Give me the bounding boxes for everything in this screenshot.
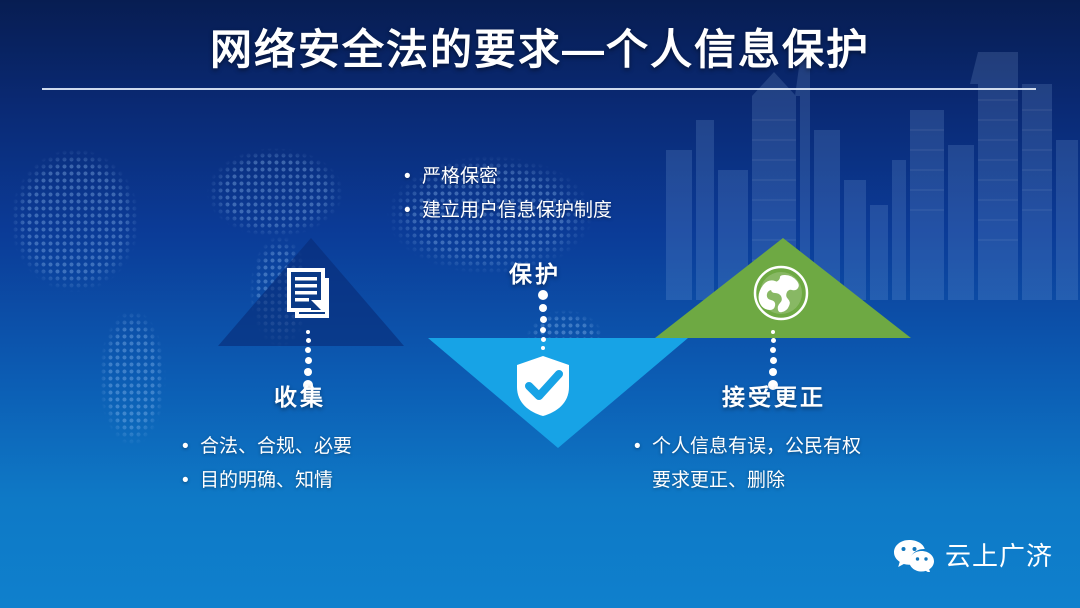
protect-connector-dots	[538, 290, 548, 354]
wechat-icon	[893, 538, 935, 572]
list-item: • 个人信息有误，公民有权	[634, 430, 861, 464]
protect-bullet-list: • 严格保密 • 建立用户信息保护制度	[404, 160, 612, 228]
bullet-marker: •	[404, 194, 422, 228]
correct-label: 接受更正	[722, 378, 826, 412]
bullet-text: 建立用户信息保护制度	[422, 194, 612, 228]
slide-canvas: 网络安全法的要求—个人信息保护	[0, 0, 1080, 608]
list-item: • 严格保密	[404, 160, 612, 194]
bullet-marker: •	[634, 430, 652, 464]
shield-check-icon	[515, 355, 571, 417]
list-item: • 合法、合规、必要	[182, 430, 352, 464]
collect-bullet-list: • 合法、合规、必要 • 目的明确、知情	[182, 430, 352, 498]
bullet-text: 目的明确、知情	[200, 464, 333, 498]
bullet-text-continuation: 要求更正、删除	[652, 464, 861, 498]
page-title: 网络安全法的要求—个人信息保护	[0, 16, 1080, 77]
list-item: • 建立用户信息保护制度	[404, 194, 612, 228]
bullet-text: 个人信息有误，公民有权	[652, 430, 861, 464]
protect-label: 保护	[509, 255, 561, 289]
bullet-text: 严格保密	[422, 160, 498, 194]
wechat-watermark: 云上广济	[893, 536, 1053, 573]
bullet-marker: •	[182, 430, 200, 464]
list-item: • 目的明确、知情	[182, 464, 352, 498]
globe-icon	[752, 264, 810, 322]
bullet-marker: •	[404, 160, 422, 194]
wechat-brand-label: 云上广济	[945, 536, 1053, 573]
bullet-text: 合法、合规、必要	[200, 430, 352, 464]
collect-label: 收集	[274, 378, 326, 412]
document-icon	[285, 266, 337, 322]
bullet-marker: •	[182, 464, 200, 498]
title-divider	[42, 88, 1036, 90]
correct-bullet-list: • 个人信息有误，公民有权 要求更正、删除	[634, 430, 861, 498]
